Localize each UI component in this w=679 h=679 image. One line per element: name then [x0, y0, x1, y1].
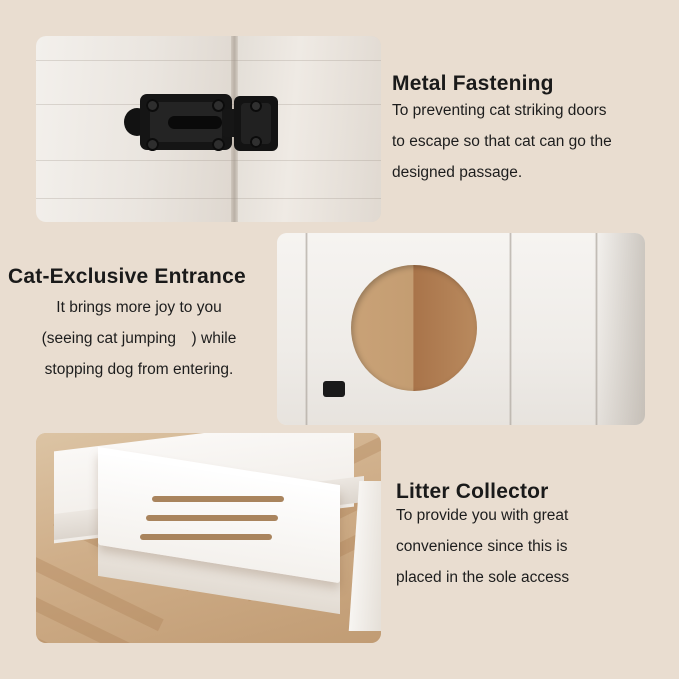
screw-icon: [250, 100, 262, 112]
photo-metal-fastening: [36, 36, 381, 222]
screw-icon: [212, 138, 225, 151]
promo-infographic: Metal Fastening To preventing cat striki…: [0, 0, 679, 679]
cat-entrance-body-line: stopping dog from entering.: [8, 354, 270, 385]
metal-fastening-body-line: to escape so that cat can go the: [392, 126, 672, 157]
litter-collector-body-line: placed in the sole access: [396, 562, 666, 593]
cat-hole-opening: [351, 265, 477, 391]
cat-entrance-title: Cat-Exclusive Entrance: [8, 265, 246, 289]
cat-entrance-body: It brings more joy to you (seeing cat ju…: [8, 292, 270, 385]
tray-slot: [152, 496, 284, 502]
latch-slot: [168, 116, 222, 129]
metal-fastening-title: Metal Fastening: [392, 72, 554, 96]
cat-entrance-body-line: (seeing cat jumping ) while: [8, 323, 270, 354]
photo-cat-entrance: [277, 233, 645, 425]
litter-collector-body-line: To provide you with great: [396, 500, 666, 531]
cat-entrance-body-line: It brings more joy to you: [8, 292, 270, 323]
photo-litter-collector: [36, 433, 381, 643]
screw-icon: [146, 99, 159, 112]
litter-collector-body: To provide you with great convenience si…: [396, 500, 666, 593]
plank-line: [36, 198, 381, 199]
plank-line: [36, 60, 381, 61]
screw-icon: [212, 99, 225, 112]
small-latch-hardware: [323, 381, 345, 397]
tray-slot: [140, 534, 272, 540]
metal-fastening-body-line: designed passage.: [392, 157, 672, 188]
tray-slot: [146, 515, 278, 521]
panel-seam: [509, 233, 512, 425]
panel-seam: [305, 233, 308, 425]
metal-fastening-body: To preventing cat striking doors to esca…: [392, 95, 672, 188]
screw-icon: [146, 138, 159, 151]
litter-collector-body-line: convenience since this is: [396, 531, 666, 562]
plank-line: [36, 160, 381, 161]
screw-icon: [250, 136, 262, 148]
metal-fastening-body-line: To preventing cat striking doors: [392, 95, 672, 126]
panel-shadow: [593, 233, 645, 425]
